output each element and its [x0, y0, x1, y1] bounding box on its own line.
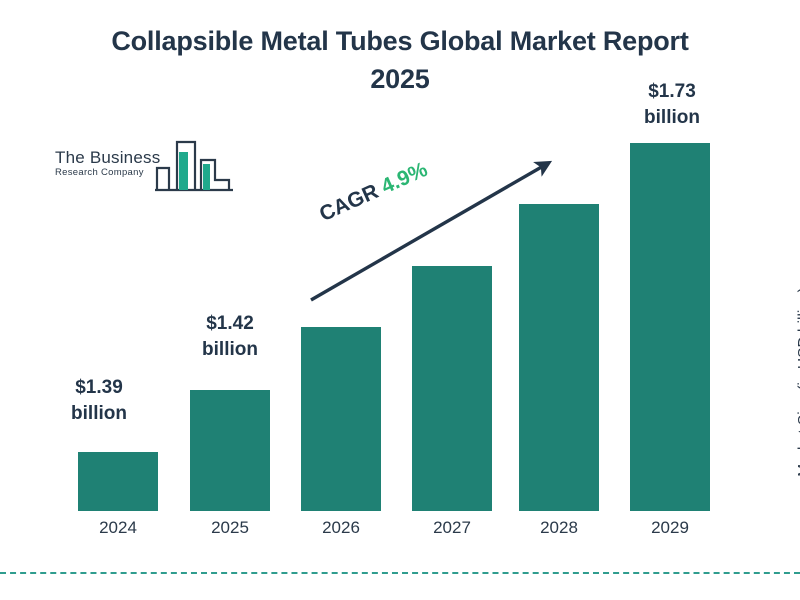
- bar-value-2025-unit: billion: [170, 337, 290, 363]
- bar-value-2024: $1.39 billion: [44, 375, 154, 427]
- x-tick-2024: 2024: [78, 518, 158, 538]
- x-tick-2025: 2025: [190, 518, 270, 538]
- bar-2028[interactable]: [519, 204, 599, 511]
- bar-2027[interactable]: [412, 266, 492, 511]
- bar-value-2029-amount: $1.73: [612, 79, 732, 105]
- chart-canvas: Collapsible Metal Tubes Global Market Re…: [0, 0, 800, 600]
- bar-value-2024-unit: billion: [44, 401, 154, 427]
- bar-2029[interactable]: [630, 143, 710, 511]
- plot-area: $1.39 billion 2024 $1.42 billion 2025 20…: [0, 0, 800, 600]
- y-axis-label: Market Size (in USD billion): [796, 252, 800, 512]
- bar-value-2024-amount: $1.39: [44, 375, 154, 401]
- bar-value-2029-unit: billion: [612, 105, 732, 131]
- footer-divider: [0, 572, 800, 574]
- x-tick-2027: 2027: [412, 518, 492, 538]
- bar-value-2029: $1.73 billion: [612, 79, 732, 131]
- x-tick-2028: 2028: [519, 518, 599, 538]
- bar-2026[interactable]: [301, 327, 381, 511]
- bar-2024[interactable]: [78, 452, 158, 511]
- bar-value-2025-amount: $1.42: [170, 311, 290, 337]
- bar-value-2025: $1.42 billion: [170, 311, 290, 363]
- x-tick-2026: 2026: [301, 518, 381, 538]
- x-tick-2029: 2029: [630, 518, 710, 538]
- bar-2025[interactable]: [190, 390, 270, 511]
